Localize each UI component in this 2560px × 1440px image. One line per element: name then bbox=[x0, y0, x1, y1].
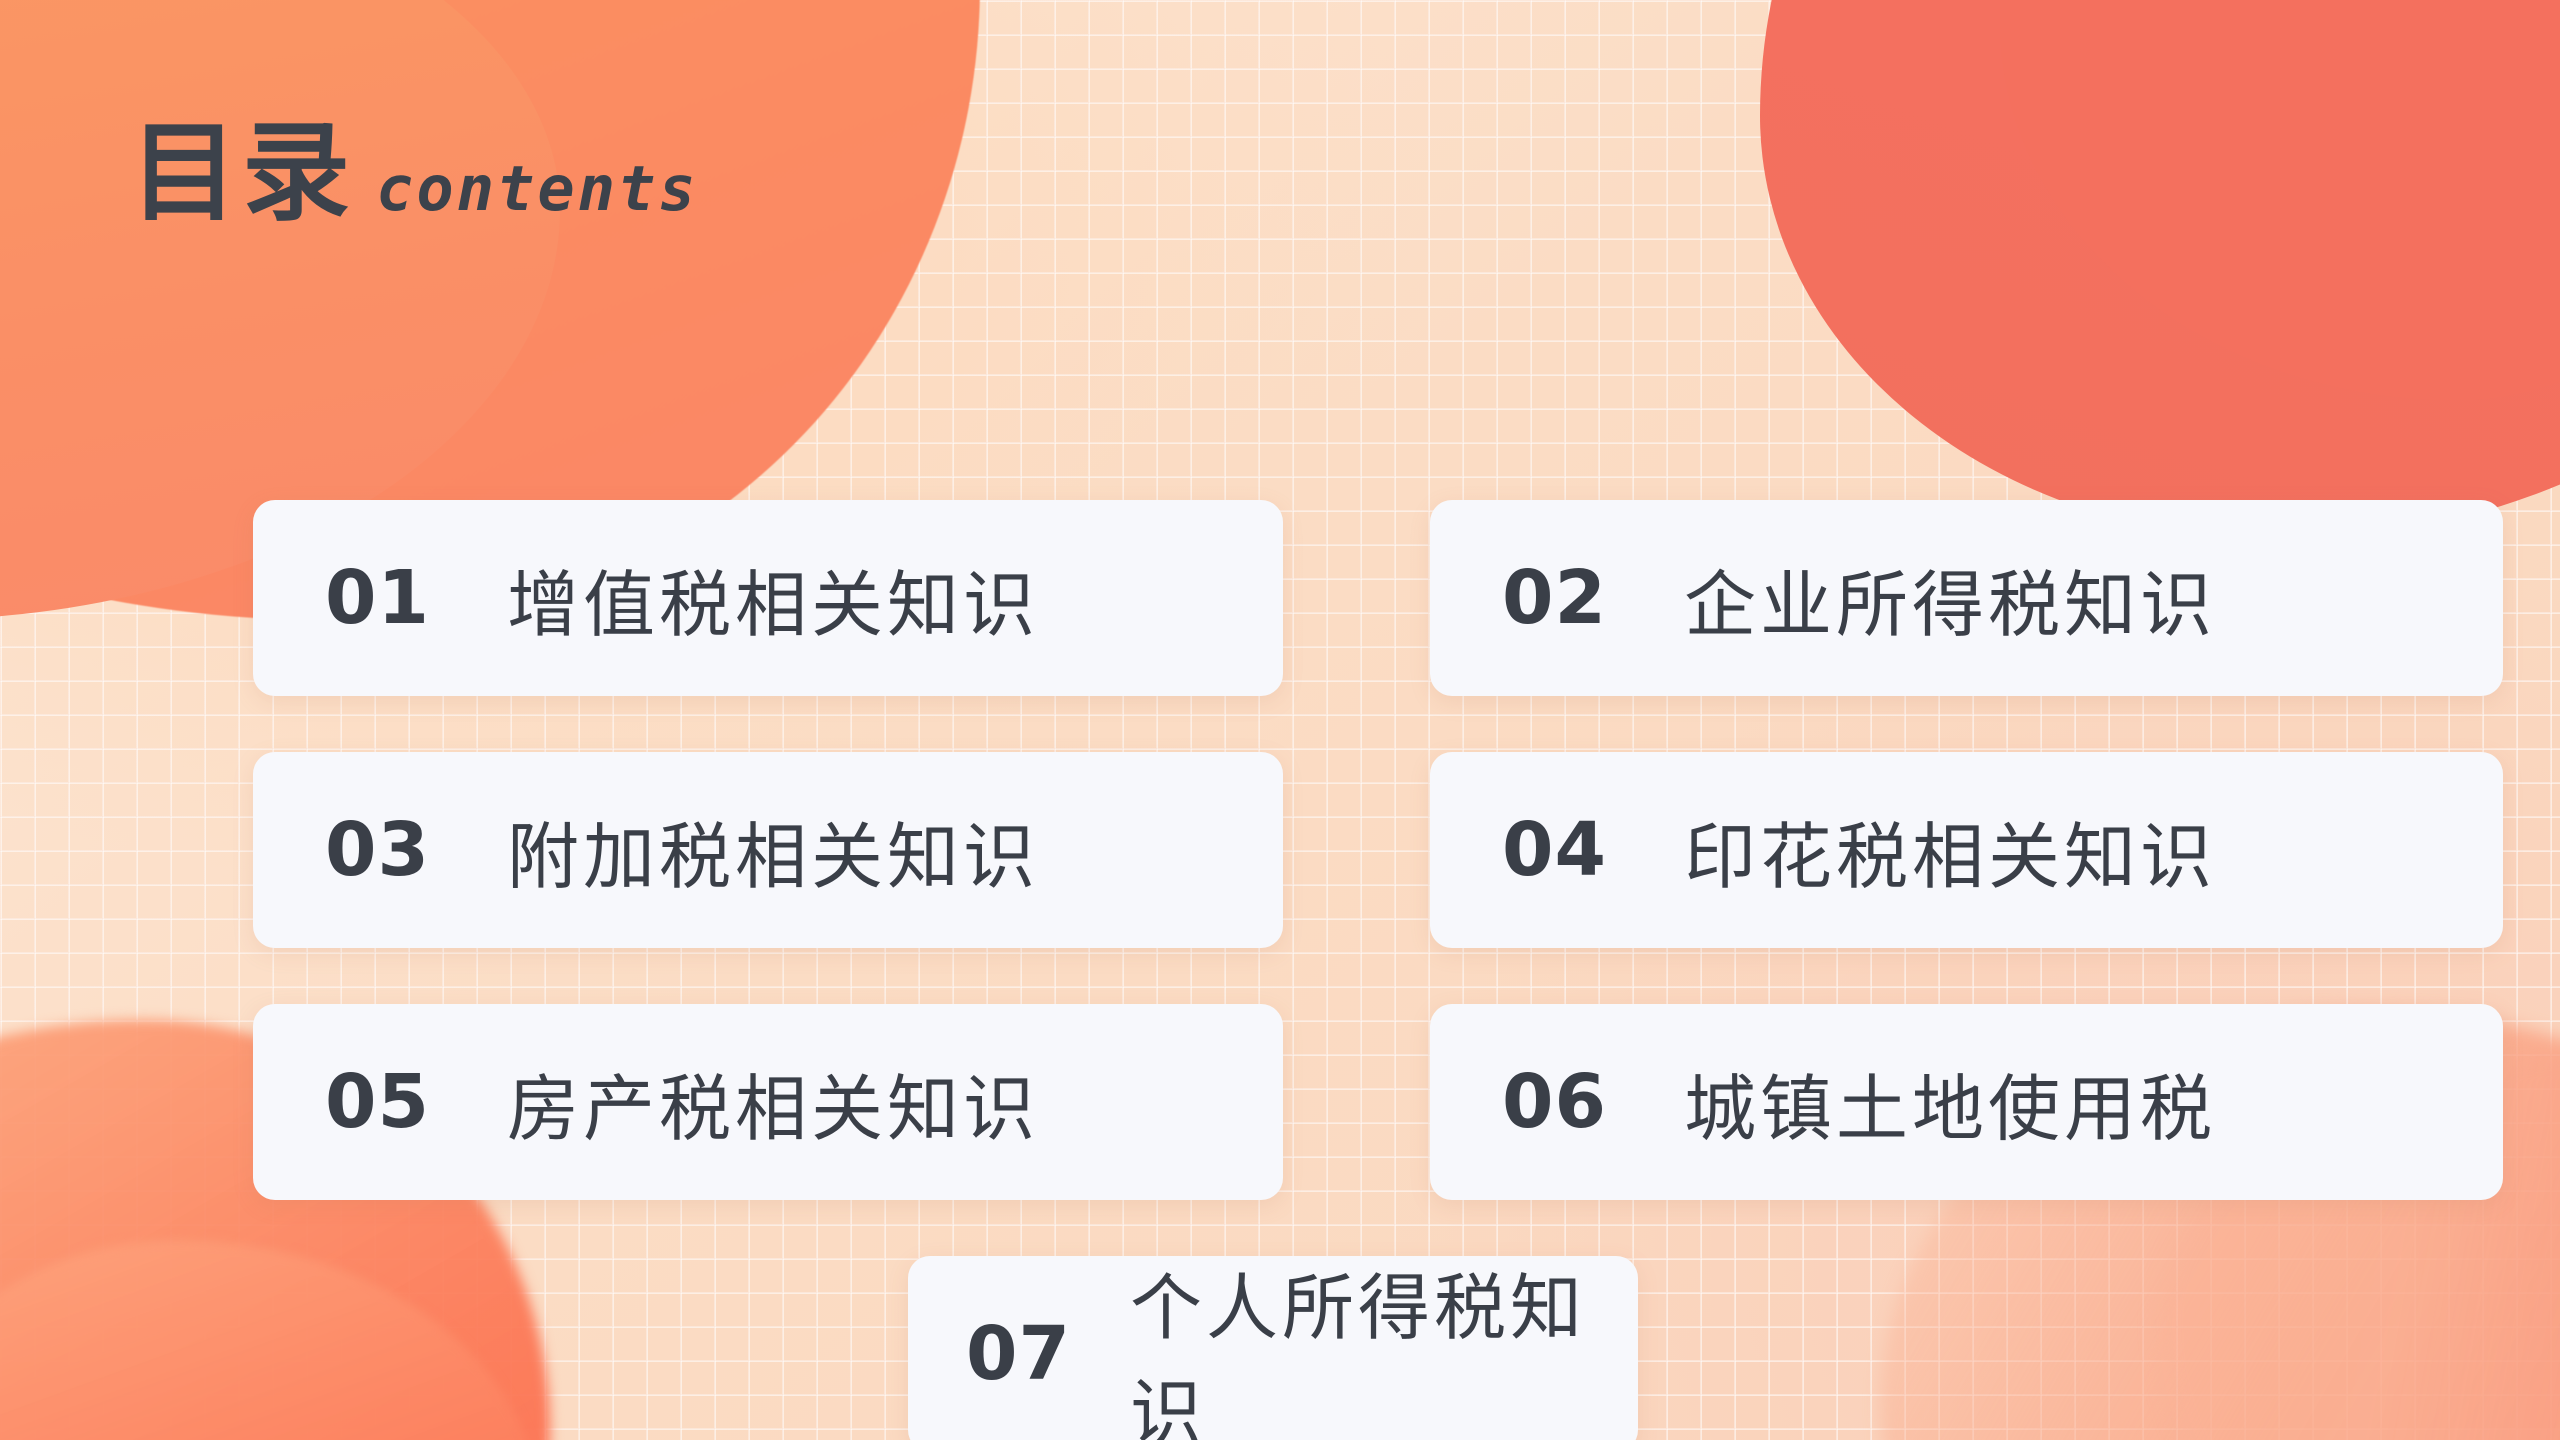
contents-item-number: 01 bbox=[325, 555, 445, 641]
contents-item-03[interactable]: 03 附加税相关知识 bbox=[253, 752, 1283, 948]
contents-item-number: 04 bbox=[1502, 807, 1622, 893]
contents-item-05[interactable]: 05 房产税相关知识 bbox=[253, 1004, 1283, 1200]
contents-item-label: 附加税相关知识 bbox=[507, 798, 1039, 903]
contents-row-final: 07 个人所得税知识 bbox=[253, 1256, 2503, 1440]
contents-item-06[interactable]: 06 城镇土地使用税 bbox=[1430, 1004, 2503, 1200]
page-title: 目录 contents bbox=[130, 120, 699, 228]
contents-item-label: 企业所得税知识 bbox=[1684, 546, 2216, 651]
contents-item-number: 03 bbox=[325, 807, 445, 893]
contents-item-number: 05 bbox=[325, 1059, 445, 1145]
contents-item-01[interactable]: 01 增值税相关知识 bbox=[253, 500, 1283, 696]
contents-list: 01 增值税相关知识 02 企业所得税知识 03 附加税相关知识 04 印花税相… bbox=[253, 500, 2503, 1440]
contents-item-04[interactable]: 04 印花税相关知识 bbox=[1430, 752, 2503, 948]
contents-row: 05 房产税相关知识 06 城镇土地使用税 bbox=[253, 1004, 2503, 1200]
contents-row: 03 附加税相关知识 04 印花税相关知识 bbox=[253, 752, 2503, 948]
contents-item-number: 07 bbox=[966, 1311, 1078, 1397]
contents-item-label: 增值税相关知识 bbox=[507, 546, 1039, 651]
contents-item-label: 城镇土地使用税 bbox=[1684, 1050, 2216, 1155]
contents-item-number: 02 bbox=[1502, 555, 1622, 641]
contents-item-02[interactable]: 02 企业所得税知识 bbox=[1430, 500, 2503, 696]
page-title-en: contents bbox=[376, 158, 699, 220]
page-title-cn: 目录 bbox=[130, 120, 354, 228]
contents-slide: 目录 contents 01 增值税相关知识 02 企业所得税知识 03 附加税… bbox=[0, 0, 2560, 1440]
contents-row: 01 增值税相关知识 02 企业所得税知识 bbox=[253, 500, 2503, 696]
contents-item-label: 个人所得税知识 bbox=[1130, 1249, 1638, 1440]
contents-item-number: 06 bbox=[1502, 1059, 1622, 1145]
contents-item-label: 印花税相关知识 bbox=[1684, 798, 2216, 903]
contents-item-label: 房产税相关知识 bbox=[507, 1050, 1039, 1155]
contents-item-07[interactable]: 07 个人所得税知识 bbox=[908, 1256, 1638, 1440]
